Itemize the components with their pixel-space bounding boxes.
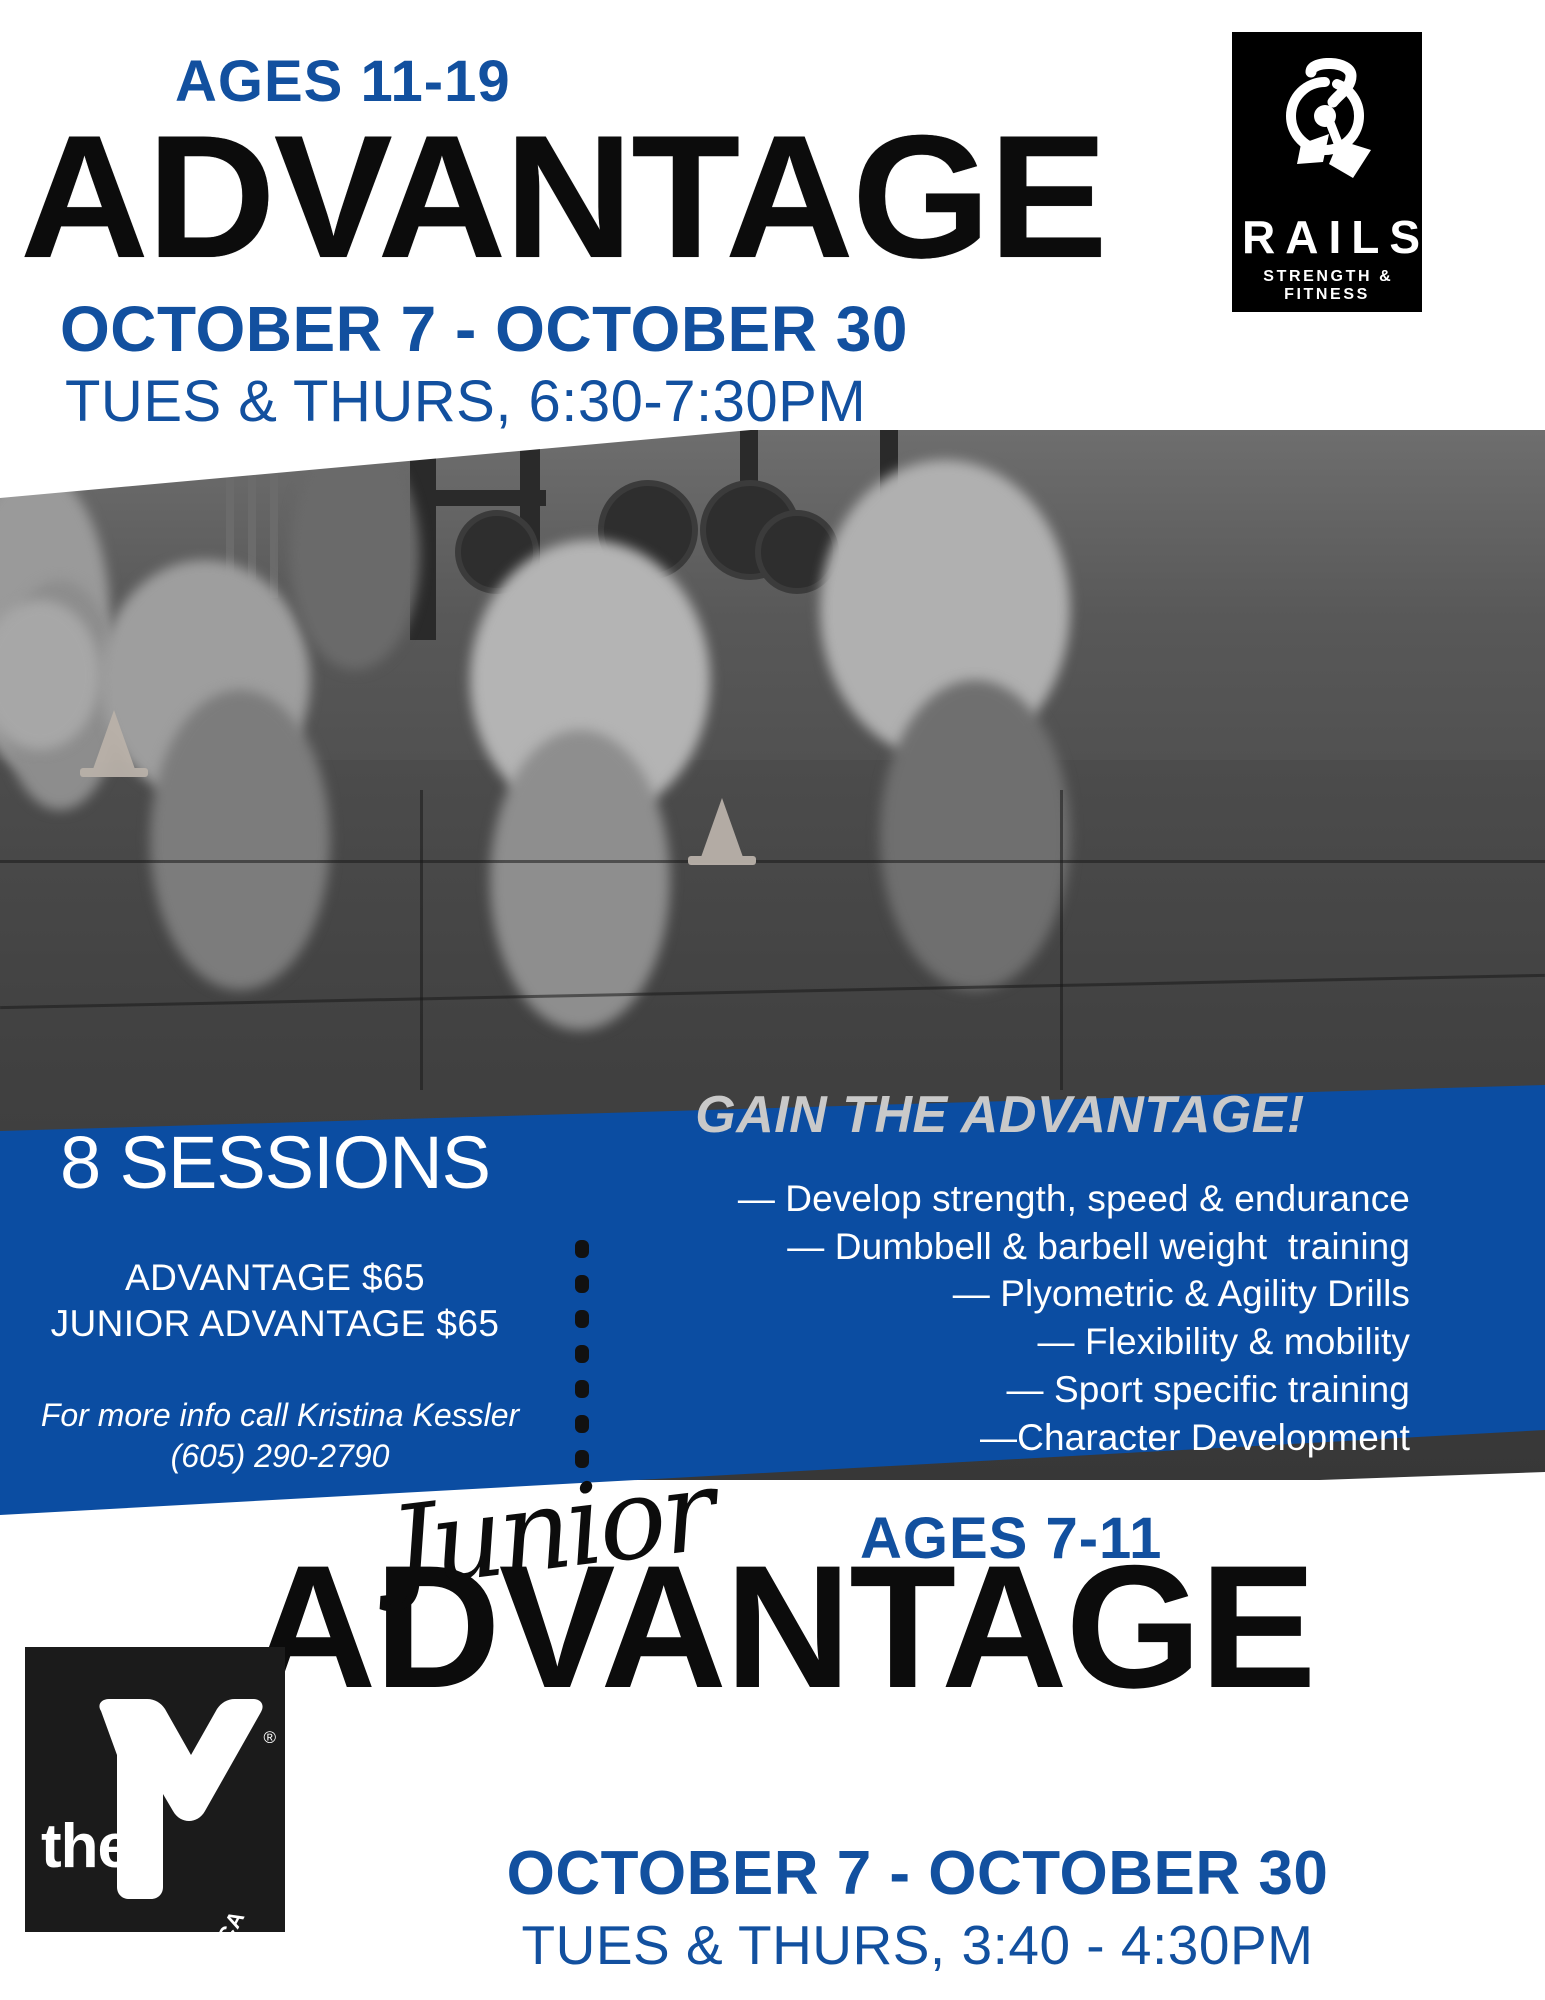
training-cone (700, 798, 744, 860)
contact-phone[interactable]: (605) 290-2790 (0, 1436, 560, 1477)
divider-dot (575, 1310, 589, 1328)
price-line: JUNIOR ADVANTAGE $65 (40, 1301, 510, 1347)
contact-info: For more info call Kristina Kessler (605… (0, 1395, 560, 1477)
registered-trademark-icon: ® (263, 1729, 276, 1746)
sessions-count: 8 SESSIONS (45, 1120, 505, 1205)
divider-dot (575, 1240, 589, 1258)
benefit-item: — Flexibility & mobility (630, 1318, 1410, 1366)
rails-logo: RAILS STRENGTH & FITNESS (1232, 32, 1422, 312)
floor-seam (420, 790, 423, 1090)
athlete-figure (290, 440, 420, 670)
benefit-item: — Dumbbell & barbell weight training (630, 1223, 1410, 1271)
divider-dot (575, 1415, 589, 1433)
athlete-figure (150, 690, 330, 990)
benefit-item: — Sport specific training (630, 1366, 1410, 1414)
ymca-the-label: the (41, 1816, 131, 1878)
dotted-divider (575, 1240, 589, 1470)
page-title-advantage-top: ADVANTAGE (20, 110, 1106, 285)
athlete-figure (490, 730, 670, 1030)
rails-wordmark: RAILS (1232, 210, 1422, 264)
times-top: TUES & THURS, 6:30-7:30PM (65, 368, 866, 435)
gain-the-advantage-heading: GAIN THE ADVANTAGE! (680, 1085, 1320, 1145)
ages-label-bottom: AGES 7-11 (860, 1505, 1162, 1572)
divider-dot (575, 1380, 589, 1398)
ymca-logo: the ® YMCA (25, 1647, 285, 1932)
ymca-wordmark: YMCA (196, 1906, 251, 1932)
dates-top: OCTOBER 7 - OCTOBER 30 (60, 292, 908, 366)
pricing-list: ADVANTAGE $65 JUNIOR ADVANTAGE $65 (40, 1255, 510, 1348)
contact-name: For more info call Kristina Kessler (0, 1395, 560, 1436)
rails-tagline: STRENGTH & FITNESS (1232, 268, 1422, 304)
athlete-figure (880, 680, 1070, 990)
floor-seam (0, 860, 1545, 863)
benefit-item: —Character Development (630, 1414, 1410, 1462)
training-cone (92, 710, 136, 772)
benefit-item: — Plyometric & Agility Drills (630, 1270, 1410, 1318)
kettlebell-icon (1267, 58, 1387, 198)
divider-dot (575, 1345, 589, 1363)
price-line: ADVANTAGE $65 (40, 1255, 510, 1301)
floor-seam (1060, 790, 1063, 1090)
benefits-list: — Develop strength, speed & endurance — … (630, 1175, 1410, 1461)
equipment-rack-arm (436, 490, 546, 506)
divider-dot (575, 1275, 589, 1293)
benefit-item: — Develop strength, speed & endurance (630, 1175, 1410, 1223)
flyer-poster: AGES 11-19 ADVANTAGE OCTOBER 7 - OCTOBER… (0, 0, 1545, 2000)
